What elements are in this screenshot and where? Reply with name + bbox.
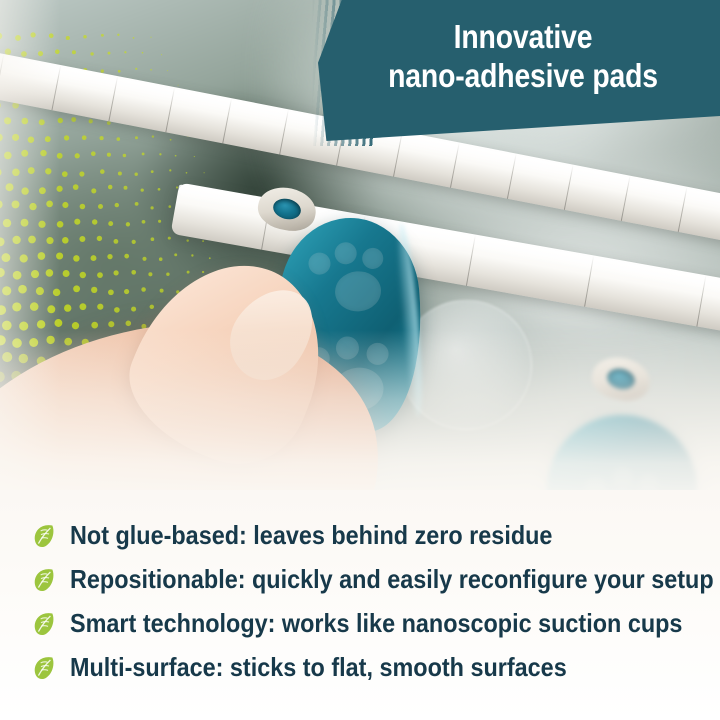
feature-item: Not glue-based: leaves behind zero resid…: [30, 518, 606, 552]
feature-item: Smart technology: works like nanoscopic …: [30, 606, 720, 640]
headline-line-1: Innovative: [357, 18, 689, 57]
leaf-icon: [30, 610, 57, 637]
headline: Innovative nano-adhesive pads: [357, 18, 689, 95]
feature-item-label: Not glue-based: leaves behind zero resid…: [70, 522, 552, 548]
headline-line-2: nano-adhesive pads: [357, 57, 689, 96]
feature-item-label: Smart technology: works like nanoscopic …: [70, 610, 682, 636]
feature-item-label: Repositionable: quickly and easily recon…: [70, 566, 714, 592]
feature-list: Not glue-based: leaves behind zero resid…: [0, 490, 720, 720]
leaf-icon: [30, 522, 57, 549]
paw-print-emboss: [301, 238, 399, 324]
feature-item: Multi-surface: sticks to flat, smooth su…: [30, 650, 622, 684]
feature-item: Repositionable: quickly and easily recon…: [30, 562, 720, 596]
product-feature-poster: Innovative nano-adhesive pads Not glue-b…: [0, 0, 720, 720]
feature-item-label: Multi-surface: sticks to flat, smooth su…: [70, 654, 567, 680]
leaf-icon: [30, 654, 57, 681]
leaf-icon: [30, 566, 57, 593]
